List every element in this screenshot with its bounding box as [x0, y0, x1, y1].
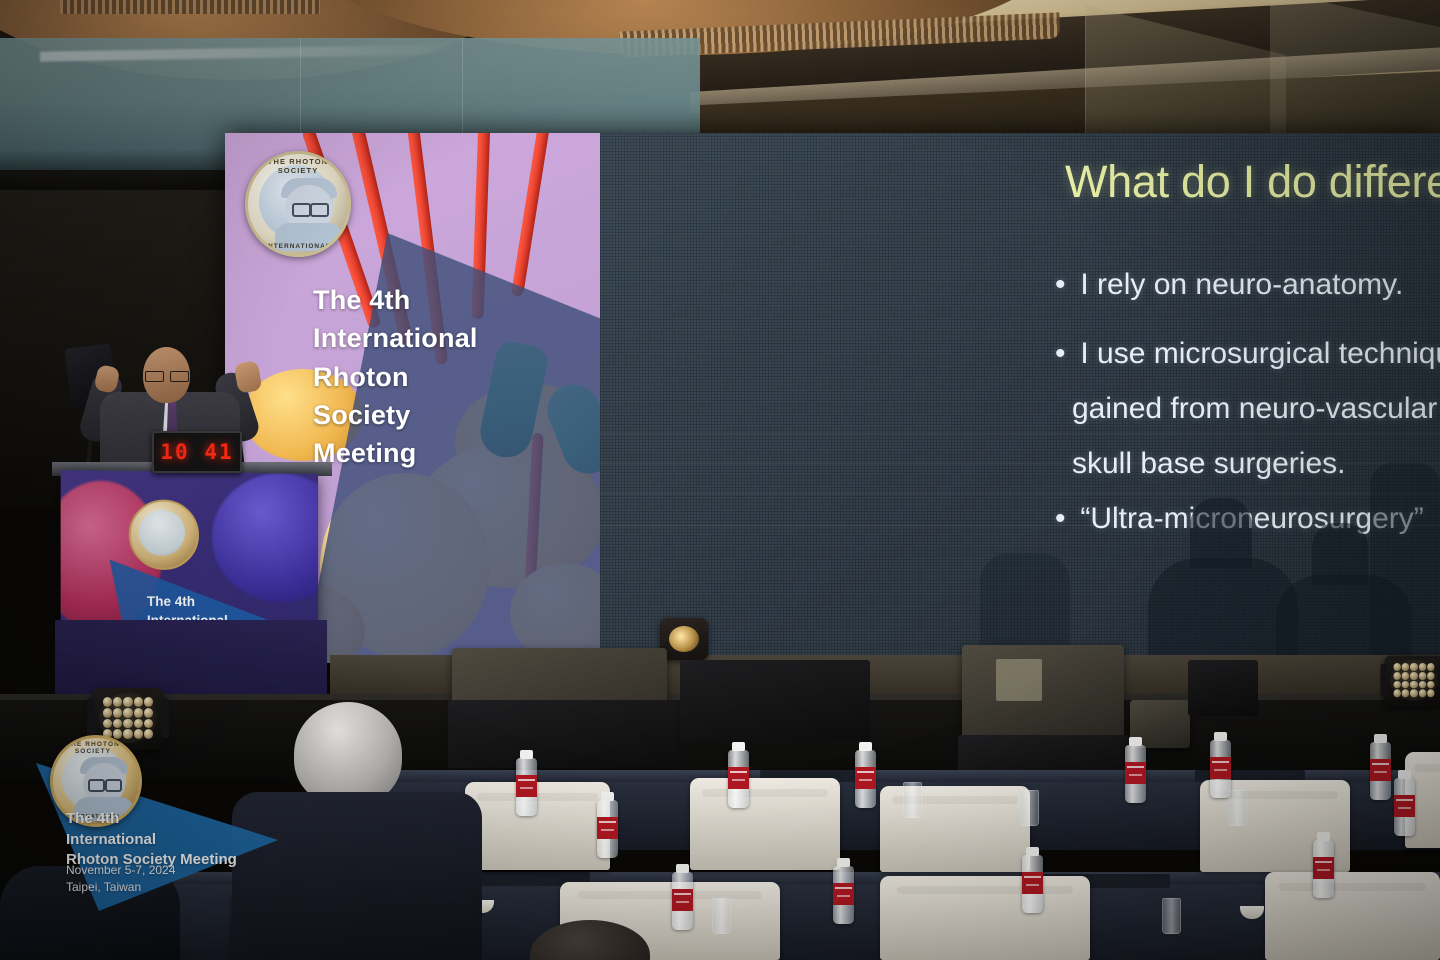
water-bottle-11	[1394, 778, 1415, 836]
moving-head-light-center	[660, 618, 708, 660]
watermark-title-line-2: International	[66, 831, 156, 848]
water-bottle-1	[516, 758, 537, 816]
title-line-2: International	[313, 323, 478, 353]
led-wash-lens-array-right	[1390, 660, 1438, 701]
attendee-head	[294, 702, 402, 806]
water-bottle-5	[833, 866, 854, 924]
podium-rhoton-logo	[129, 499, 199, 570]
audience-chair-2	[690, 778, 840, 870]
drinking-glass-5	[1162, 898, 1181, 934]
logo-portrait-disc	[259, 165, 333, 239]
clock-digits: 10 41	[160, 440, 233, 464]
logo-top-text: THE RHOTON SOCIETY	[248, 157, 348, 175]
water-bottle-8	[1210, 740, 1231, 798]
bullet-2-line-2: gained from neuro-vascular and	[1055, 382, 1440, 437]
conference-title-on-screen: The 4th International Rhoton Society Mee…	[313, 281, 583, 473]
drinking-glass-2	[1228, 790, 1247, 826]
rhoton-society-logo: THE RHOTON SOCIETY INTERNATIONAL	[245, 151, 351, 257]
water-bottle-13	[672, 872, 693, 930]
water-bottle-10	[1370, 742, 1391, 800]
slide-title: What do I do differently?	[1065, 156, 1440, 208]
led-wash-light-right	[1384, 656, 1440, 707]
screen-right-slide-panel: What do I do differently? • I rely on ne…	[600, 133, 1440, 663]
water-bottle-7	[1125, 745, 1146, 803]
watermark-date: November 5-7, 2024	[66, 863, 175, 877]
watermark-location: Taipei, Taiwan	[66, 880, 141, 894]
logo-bottom-text: INTERNATIONAL	[248, 243, 348, 250]
title-line-3: Rhoton	[313, 362, 409, 392]
countdown-clock-display: 10 41	[152, 431, 242, 473]
water-bottle-6	[1022, 855, 1043, 913]
bronze-fringe-left	[60, 0, 320, 14]
watermark-logo-disc	[62, 747, 126, 811]
event-watermark: THE RHOTON SOCIETY INTERNATIONAL The 4th…	[28, 735, 278, 915]
watermark-logo-top-text: THE RHOTON SOCIETY	[53, 741, 133, 755]
audience-chair-1	[465, 782, 610, 870]
equipment-case-2	[962, 645, 1124, 743]
watermark-logo-glasses-left	[88, 779, 105, 792]
led-presentation-screen: THE RHOTON SOCIETY INTERNATIONAL The 4th…	[225, 133, 1440, 663]
monitor-back-right	[1188, 660, 1258, 716]
audience-chair-9	[1265, 872, 1440, 960]
conference-photo-scene: THE RHOTON SOCIETY INTERNATIONAL The 4th…	[0, 0, 1440, 960]
watermark-date-location: November 5-7, 2024 Taipei, Taiwan	[66, 862, 175, 896]
drinking-glass-3	[1020, 790, 1039, 826]
water-bottle-9	[1313, 840, 1334, 898]
logo-glasses-left	[292, 203, 311, 217]
silhouette-camera-operator	[1370, 463, 1440, 663]
drinking-glass-4	[712, 898, 731, 934]
audience-chair-8	[880, 876, 1090, 960]
podium-title-line-1: The 4th	[147, 594, 195, 609]
water-bottle-3	[728, 750, 749, 808]
water-bottle-4	[855, 750, 876, 808]
speaker-cabinet-2	[680, 660, 870, 740]
bullet-2-line-1: • I use microsurgical techniques I	[1055, 327, 1440, 382]
moving-head-lens	[669, 626, 699, 652]
watermark-logo-glasses-right	[105, 779, 122, 792]
title-line-4: Society	[313, 400, 410, 430]
bullet-1-line-1: • I rely on neuro-anatomy.	[1055, 258, 1440, 313]
speaker-eyeglasses	[145, 371, 189, 380]
watermark-title-line-1: The 4th	[66, 810, 119, 827]
logo-glasses-right	[310, 203, 329, 217]
water-bottle-2	[597, 800, 618, 858]
drinking-glass-1	[903, 782, 922, 818]
title-line-1: The 4th	[313, 285, 410, 315]
speaker-cabinet-1	[448, 700, 676, 768]
